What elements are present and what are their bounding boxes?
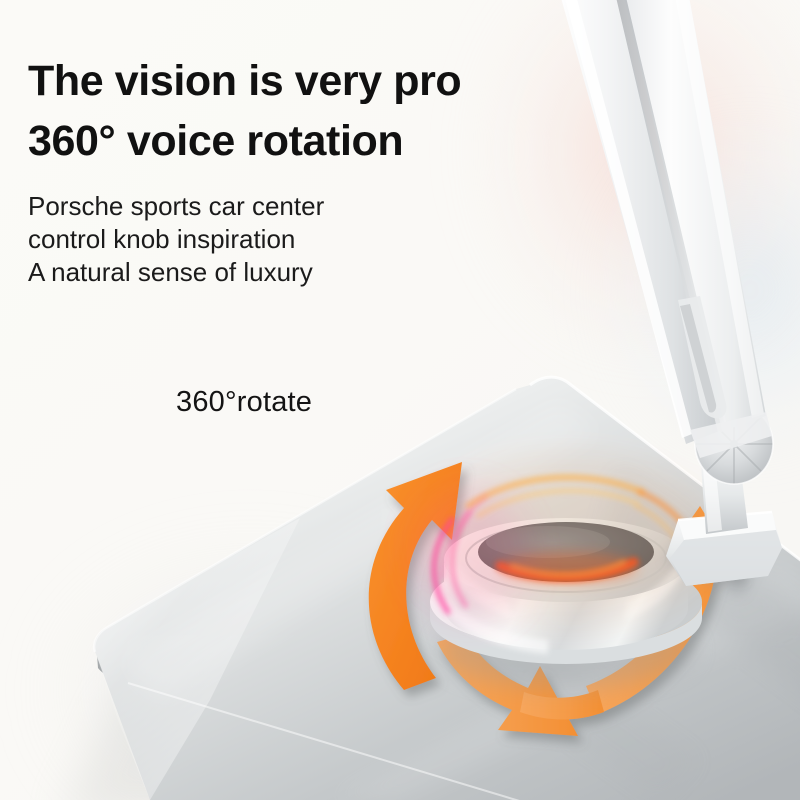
subtitle-line-2: control knob inspiration xyxy=(28,223,448,256)
streak-magenta-bloom xyxy=(408,490,528,622)
headline-line-1: The vision is very pro xyxy=(28,55,548,108)
product-marketing-image: The vision is very pro 360° voice rotati… xyxy=(0,0,800,800)
subtitle-line-1: Porsche sports car center xyxy=(28,190,448,223)
rotate-callout-label: 360°rotate xyxy=(176,386,312,419)
subtitle-line-3: A natural sense of luxury xyxy=(28,256,448,289)
headline-line-2: 360° voice rotation xyxy=(28,115,548,168)
